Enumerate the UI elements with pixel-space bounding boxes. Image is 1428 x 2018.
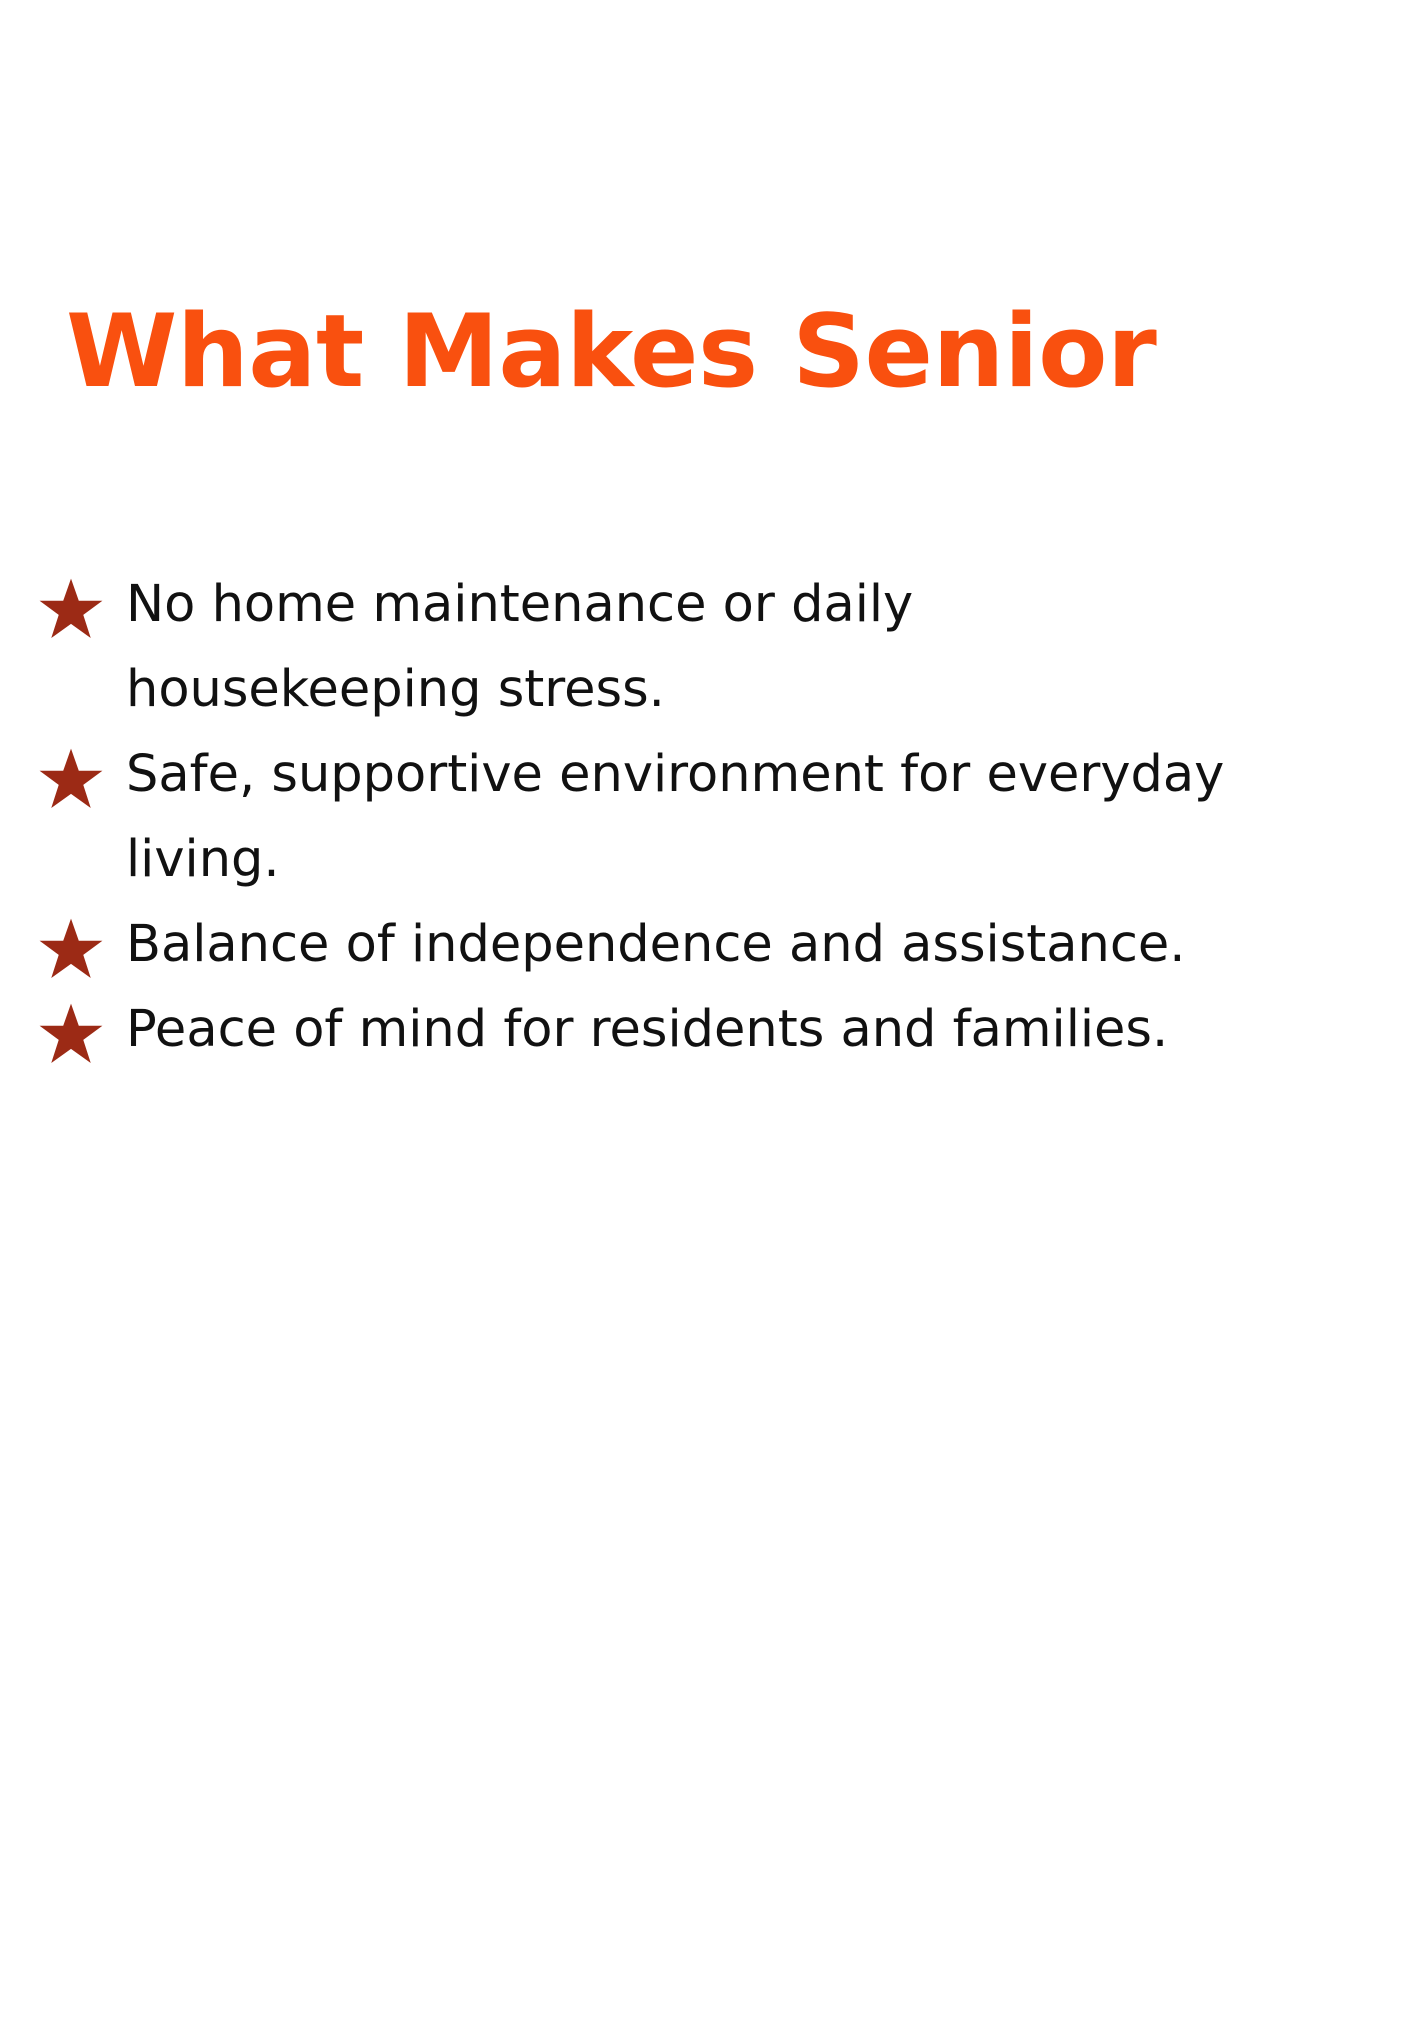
benefits-list: No home maintenance or daily housekeepin… (36, 562, 1428, 1072)
page-title-text: What Makes Senior (66, 288, 1428, 414)
star-icon (38, 746, 104, 812)
star-icon (38, 1001, 104, 1067)
list-item: Peace of mind for residents and families… (36, 987, 1428, 1072)
list-item: Safe, supportive environment for everyda… (36, 732, 1428, 902)
list-item-label: Safe, supportive environment for everyda… (126, 732, 1246, 902)
list-item-label: Balance of independence and assistance. (126, 902, 1246, 987)
slide-canvas: What Makes Senior No home maintenance or… (0, 0, 1428, 2018)
star-icon (38, 916, 104, 982)
list-item: No home maintenance or daily housekeepin… (36, 562, 1428, 732)
star-icon (38, 576, 104, 642)
list-item-label: Peace of mind for residents and families… (126, 987, 1246, 1072)
list-item-label: No home maintenance or daily housekeepin… (126, 562, 1246, 732)
list-item: Balance of independence and assistance. (36, 902, 1428, 987)
page-title: What Makes Senior (66, 288, 1428, 428)
